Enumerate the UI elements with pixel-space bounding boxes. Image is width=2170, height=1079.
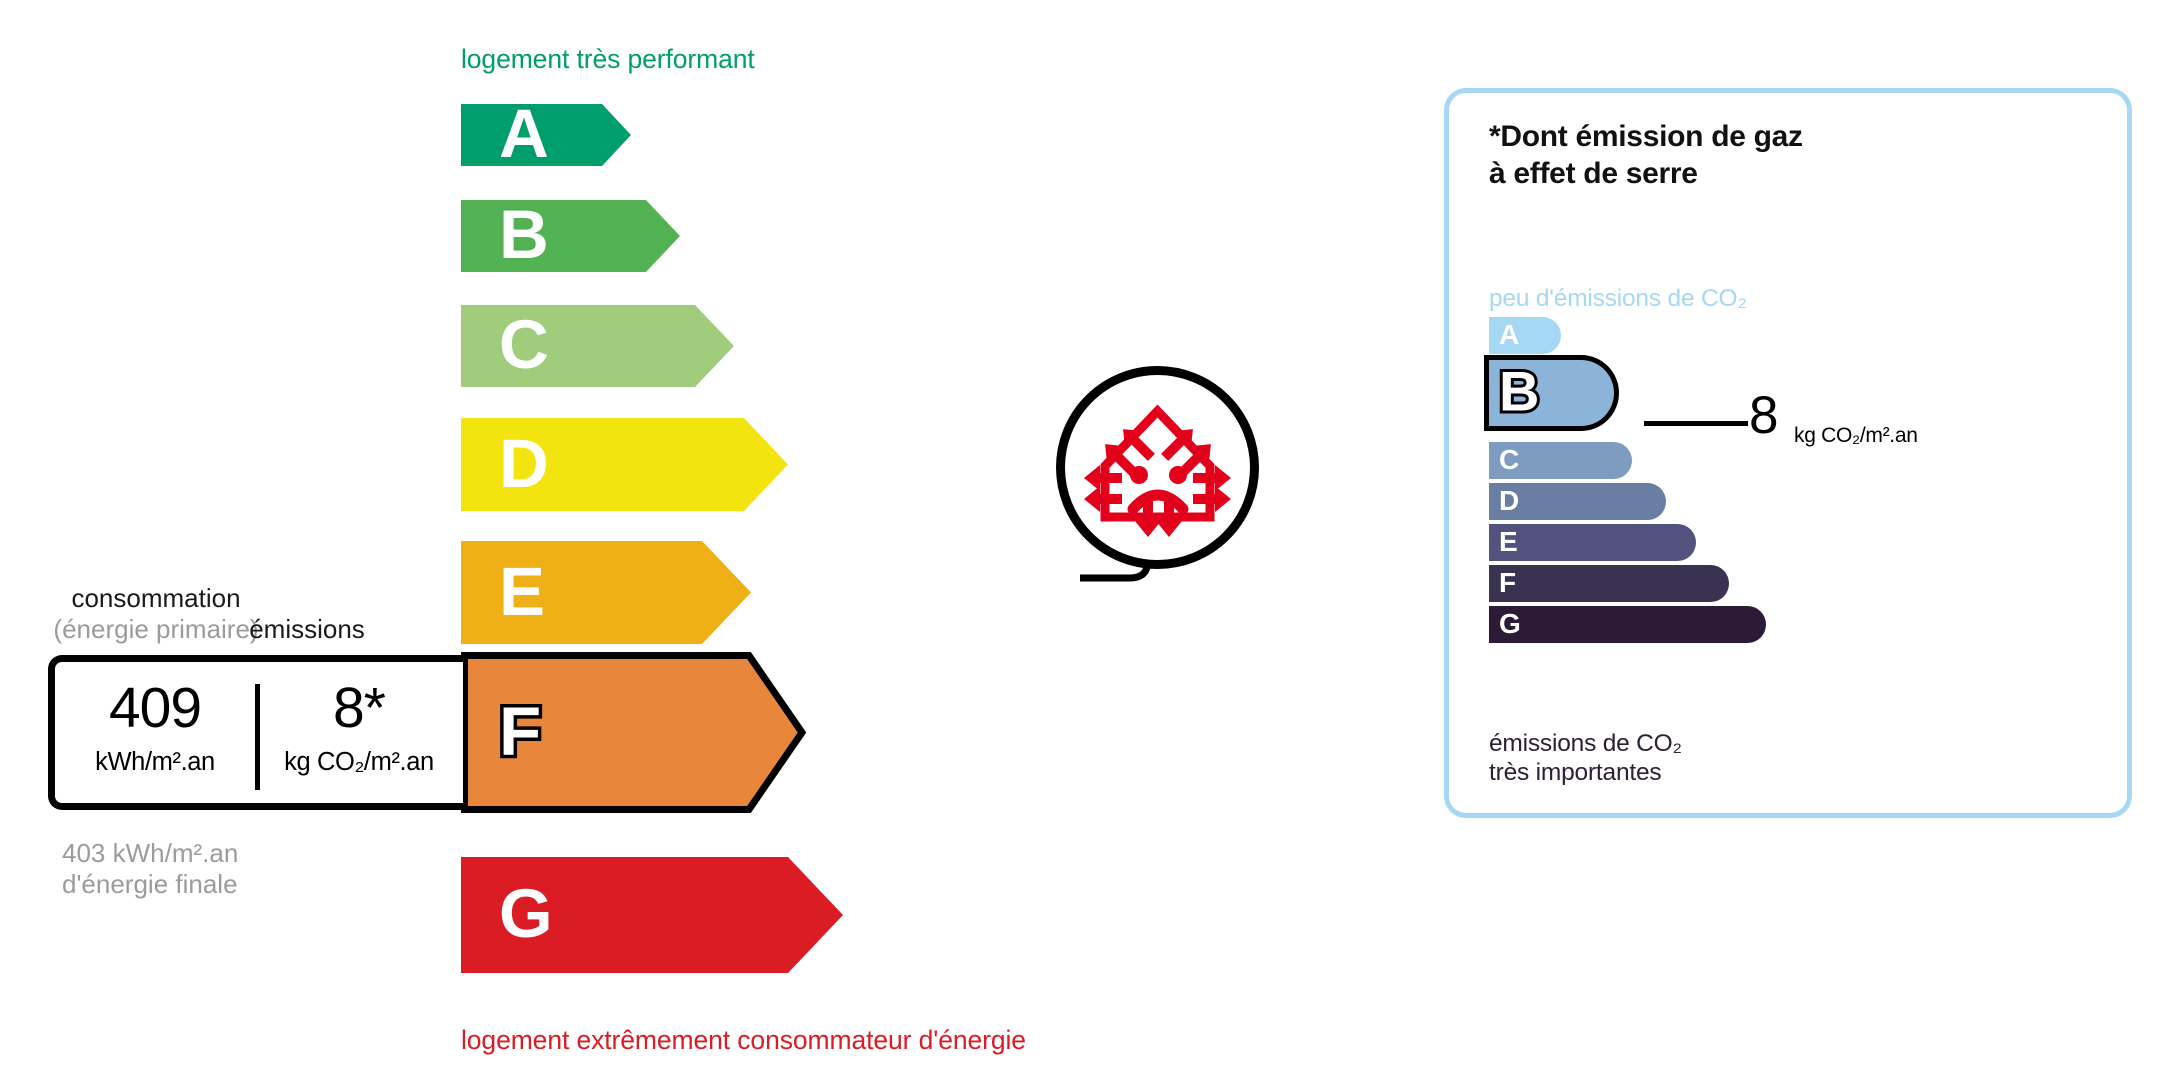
co2-bar-d: D (1489, 483, 1666, 520)
energy-bar-c: C (461, 305, 734, 387)
energy-bar-f-letter: F (499, 697, 541, 766)
co2-bar-e: E (1489, 524, 1696, 561)
energy-bar-b: B (461, 200, 680, 272)
consumption-value-box: 409 kWh/m².an 8* kg CO₂/m².an (48, 655, 463, 810)
consumption-energy-value: 409 (55, 680, 255, 737)
co2-bar-b-selected: B (1484, 355, 1619, 431)
co2-bar-g: G (1489, 606, 1766, 643)
co2-value-leader-line (1644, 421, 1748, 426)
co2-bar-f-letter: F (1499, 569, 1516, 597)
energy-bar-a: A (461, 104, 631, 166)
label-emissions: émissions (212, 614, 402, 645)
energy-bar-d: D (461, 418, 788, 511)
co2-bar-f: F (1489, 565, 1729, 602)
dpe-label: logement très performant A B C (0, 0, 2170, 1079)
co2-caption-bottom-line2: très importantes (1489, 759, 1682, 788)
energy-bar-d-letter: D (499, 429, 549, 498)
consumption-co2-unit: kg CO₂/m².an (263, 748, 455, 777)
energy-bar-g: G (461, 857, 843, 973)
consumption-energy-cell: 409 kWh/m².an (55, 662, 255, 803)
energy-bar-c-letter: C (499, 310, 549, 379)
energy-bar-g-letter: G (499, 879, 553, 948)
energy-bar-a-letter: A (499, 99, 549, 168)
consumption-energy-unit: kWh/m².an (55, 748, 255, 777)
co2-bar-a-letter: A (1499, 321, 1519, 349)
consumption-co2-value: 8* (263, 680, 455, 737)
energy-bar-e-letter: E (499, 557, 545, 626)
energy-bar-b-shape (461, 200, 680, 272)
co2-bar-g-shape (1489, 606, 1766, 643)
co2-bar-c-letter: C (1499, 446, 1519, 474)
co2-bar-a: A (1489, 317, 1561, 354)
co2-bar-e-letter: E (1499, 528, 1518, 556)
label-consommation: consommation (56, 583, 256, 614)
co2-caption-bottom-line1: émissions de CO₂ (1489, 730, 1682, 759)
co2-bars: A B C D E F (1449, 93, 2127, 813)
final-energy-note: 403 kWh/m².an d'énergie finale (62, 838, 238, 899)
consumption-box-divider (255, 684, 260, 790)
co2-bar-d-letter: D (1499, 487, 1519, 515)
sad-house-energy-loss-icon (1055, 365, 1260, 570)
energy-bar-b-letter: B (499, 200, 549, 269)
energy-scale-panel: logement très performant A B C (0, 0, 1440, 1079)
co2-emissions-panel: *Dont émission de gaz à effet de serre p… (1444, 88, 2132, 818)
co2-caption-bottom: émissions de CO₂ très importantes (1489, 730, 1682, 788)
final-energy-note-line1: 403 kWh/m².an (62, 838, 238, 869)
co2-bar-f-shape (1489, 565, 1729, 602)
co2-value-unit: kg CO₂/m².an (1794, 424, 1918, 448)
co2-value: 8 (1749, 389, 1777, 442)
co2-bar-c: C (1489, 442, 1632, 479)
energy-bar-f-selected: F (461, 652, 806, 813)
energy-bar-e: E (461, 541, 751, 644)
co2-bar-e-shape (1489, 524, 1696, 561)
consumption-co2-cell: 8* kg CO₂/m².an (263, 662, 455, 803)
energy-bottom-caption: logement extrêmement consommateur d'éner… (461, 1025, 1026, 1056)
co2-bar-b-letter: B (1499, 363, 1539, 419)
co2-bar-g-letter: G (1499, 610, 1521, 638)
co2-bar-b-left-edge (1484, 355, 1489, 431)
final-energy-note-line2: d'énergie finale (62, 869, 238, 900)
